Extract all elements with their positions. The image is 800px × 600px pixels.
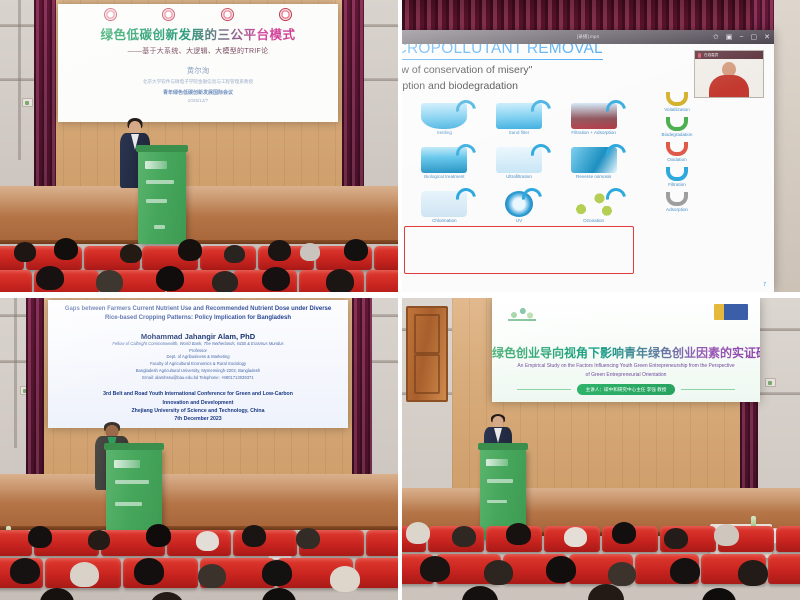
process-cell: Biological treatment bbox=[408, 146, 481, 188]
hall-scene-1: 绿色低碳创新发展的三公平台模式 ——基于大系统、大逻辑、大模型的TRIF论 黄尔… bbox=[0, 0, 398, 292]
chlorination-icon bbox=[421, 191, 467, 217]
fate-list: Volatilization Biodegradation Oxidation bbox=[642, 92, 712, 217]
audience-head bbox=[326, 269, 354, 292]
audience-head bbox=[664, 528, 688, 549]
projection-screen: 绿色创业导向视角下影响青年绿色创业因素的实证研究 An Empirical St… bbox=[492, 298, 760, 402]
participant-body bbox=[709, 75, 749, 97]
audience-head bbox=[588, 584, 624, 600]
slide-line-2: Sorption and biodegradation bbox=[402, 80, 518, 92]
fate-item: Filtration bbox=[642, 167, 712, 187]
process-label: UV bbox=[483, 218, 556, 224]
audience-head bbox=[546, 556, 576, 583]
process-label: Ozonation bbox=[557, 218, 630, 224]
audience-head bbox=[134, 558, 164, 585]
process-cell: Settling bbox=[408, 102, 481, 144]
podium-text-line bbox=[115, 502, 142, 506]
ultrafiltration-icon bbox=[496, 147, 542, 173]
pin-icon[interactable]: ✩ bbox=[713, 33, 719, 41]
reverse-osmosis-icon bbox=[571, 147, 617, 173]
podium-text-line bbox=[115, 480, 149, 484]
seat bbox=[355, 558, 398, 588]
slide-conference-line-1: 3rd Belt and Road Youth International Co… bbox=[58, 390, 338, 398]
fate-item: Adsorption bbox=[642, 192, 712, 212]
seat bbox=[0, 270, 32, 292]
audience-head bbox=[452, 526, 476, 547]
audience-head bbox=[196, 531, 219, 551]
slide-subtitle-line-2: of Green Entrepreneurial Orientation bbox=[586, 372, 667, 378]
settling-tank-icon bbox=[421, 103, 467, 129]
audience-head bbox=[70, 562, 99, 587]
audience-head bbox=[96, 270, 123, 292]
partner-logo-icon bbox=[714, 304, 748, 320]
seat bbox=[366, 270, 398, 292]
audience-head bbox=[296, 528, 320, 549]
audience-head bbox=[670, 558, 700, 584]
process-label: Chlorination bbox=[408, 218, 481, 224]
hall-scene-3: Gaps between Farmers Current Nutrient Us… bbox=[0, 298, 398, 600]
panel-green-low-carbon-keynote: 绿色低碳创新发展的三公平台模式 ——基于大系统、大逻辑、大模型的TRIF论 黄尔… bbox=[0, 0, 398, 292]
fate-label: Volatilization bbox=[642, 107, 712, 112]
wall-seam bbox=[18, 0, 21, 160]
fate-item: Biodegradation bbox=[642, 117, 712, 137]
audience-head bbox=[120, 244, 142, 263]
seal-icon bbox=[104, 8, 117, 21]
audience-head bbox=[406, 522, 430, 544]
slide-subtitle: ——基于大系统、大逻辑、大模型的TRIF论 bbox=[66, 46, 330, 56]
audience-seating-4 bbox=[402, 520, 800, 600]
audience-head bbox=[28, 526, 52, 548]
audience-head bbox=[224, 245, 245, 263]
podium-top bbox=[136, 145, 188, 152]
seal-icon bbox=[279, 8, 292, 21]
audience-head bbox=[14, 242, 36, 262]
slide-fellow-line: Fellow of Calbright Commonwealth, World … bbox=[58, 341, 338, 348]
audience-head bbox=[178, 239, 202, 261]
fate-label: Filtration bbox=[642, 182, 712, 187]
seal-icon bbox=[221, 8, 234, 21]
process-label: Filtration + Adsorption bbox=[557, 130, 630, 136]
process-cell: Sand filter bbox=[483, 102, 556, 144]
audience-head bbox=[156, 266, 184, 291]
process-label: Ultrafiltration bbox=[483, 174, 556, 180]
process-cell: Ultrafiltration bbox=[483, 146, 556, 188]
stage-floor bbox=[0, 186, 398, 242]
slide-faculty: Faculty of Agricultural Economics & Rura… bbox=[58, 361, 338, 368]
process-cell: Reverse osmosis bbox=[557, 146, 630, 188]
audience-head bbox=[212, 271, 238, 292]
audience-head bbox=[612, 522, 636, 544]
audience-head bbox=[300, 243, 320, 261]
panel-green-entrepreneurship-keynote: 绿色创业导向视角下影响青年绿色创业因素的实证研究 An Empirical St… bbox=[402, 298, 800, 600]
seat bbox=[366, 530, 398, 556]
podium-logo bbox=[145, 161, 167, 169]
seat bbox=[776, 526, 800, 552]
sand-filter-icon bbox=[496, 103, 542, 129]
slide-title: Gaps between Farmers Current Nutrient Us… bbox=[58, 305, 338, 323]
slide-bangladesh-nutrient: Gaps between Farmers Current Nutrient Us… bbox=[48, 300, 348, 428]
filtration-arrow-icon bbox=[666, 167, 688, 181]
audience-head bbox=[608, 562, 636, 586]
seal-icon bbox=[162, 8, 175, 21]
audience-seating-1 bbox=[0, 236, 398, 292]
exit-door[interactable] bbox=[406, 306, 448, 402]
slide-page-number: 7 bbox=[763, 282, 766, 288]
podium-text-line bbox=[487, 500, 506, 504]
audience-head bbox=[10, 558, 40, 584]
participant-name: 在线嘉宾 bbox=[704, 53, 718, 58]
wall-socket bbox=[22, 98, 33, 107]
audience-head bbox=[54, 238, 78, 260]
audience-seating-3 bbox=[0, 522, 398, 600]
audience-head bbox=[262, 588, 296, 600]
university-leaf-logo-icon bbox=[502, 303, 542, 323]
seat bbox=[374, 246, 398, 270]
player-file-name: [录播].mp4 bbox=[577, 34, 599, 40]
seat bbox=[768, 554, 800, 584]
slide-title: 绿色低碳创新发展的三公平台模式 bbox=[66, 24, 330, 43]
adsorption-arrow-icon bbox=[666, 192, 688, 206]
participant-figure bbox=[709, 62, 749, 97]
microphone-muted-icon bbox=[698, 53, 701, 58]
video-participant-thumbnail[interactable]: 在线嘉宾 bbox=[694, 50, 764, 98]
process-label: Settling bbox=[408, 130, 481, 136]
audience-head bbox=[702, 588, 736, 600]
process-label: Reverse osmosis bbox=[557, 174, 630, 180]
podium-text-line bbox=[146, 180, 174, 184]
process-cell: Filtration + Adsorption bbox=[557, 102, 630, 144]
side-wall bbox=[774, 0, 800, 292]
podium bbox=[138, 150, 186, 244]
projection-screen: 绿色低碳创新发展的三公平台模式 ——基于大系统、大逻辑、大模型的TRIF论 黄尔… bbox=[58, 4, 338, 122]
audience-head bbox=[564, 527, 587, 547]
oxidation-arrow-icon bbox=[666, 142, 688, 156]
podium-text-line bbox=[154, 225, 165, 229]
audience-head bbox=[262, 267, 290, 291]
projection-screen: MICROPOLLUTANT REMOVAL "Law of conservat… bbox=[402, 30, 774, 292]
ozonation-icon bbox=[571, 191, 617, 217]
audience-head bbox=[330, 566, 360, 592]
wall-seam bbox=[14, 298, 17, 448]
podium-top bbox=[478, 443, 528, 450]
fate-label: Adsorption bbox=[642, 207, 712, 212]
photo-collage: 绿色低碳创新发展的三公平台模式 ——基于大系统、大逻辑、大模型的TRIF论 黄尔… bbox=[0, 0, 800, 600]
audience-head bbox=[40, 588, 74, 600]
treatment-process-grid: Settling Sand filter Filtration + Adsorp… bbox=[408, 102, 630, 232]
slide-seal-row bbox=[66, 8, 330, 21]
maximize-icon[interactable]: ▢ bbox=[751, 33, 758, 41]
slide-conference-line-2: Innovation and Development bbox=[58, 399, 338, 407]
slide-date: 2025/12/7 bbox=[66, 98, 330, 103]
audience-head bbox=[262, 560, 292, 586]
audience-head bbox=[146, 524, 171, 547]
audience-head bbox=[420, 556, 450, 582]
player-window-titlebar[interactable]: [录播].mp4 ✩ ▣ − ▢ ✕ bbox=[402, 30, 774, 44]
fate-label: Biodegradation bbox=[642, 132, 712, 137]
audience-head bbox=[344, 239, 368, 261]
minimize-icon[interactable]: − bbox=[739, 34, 743, 41]
slide-conference: 青年绿色低碳创新发展国际会议 bbox=[66, 89, 330, 96]
audience-head bbox=[150, 592, 184, 600]
slide-contact: Email: alamhssu@bau.edu.bd Telephone: +8… bbox=[58, 375, 338, 382]
filtration-adsorption-icon bbox=[571, 103, 617, 129]
highlight-box bbox=[404, 226, 634, 274]
audience-head bbox=[714, 524, 739, 546]
slide-presenter: Mohammad Jahangir Alam, PhD bbox=[58, 332, 338, 341]
podium-logo bbox=[114, 460, 140, 468]
audience-head bbox=[738, 560, 768, 586]
screen-icon[interactable]: ▣ bbox=[726, 33, 733, 41]
process-label: Biological treatment bbox=[408, 174, 481, 180]
audience-head bbox=[88, 530, 110, 550]
window-controls[interactable]: ✩ ▣ − ▢ ✕ bbox=[713, 30, 770, 44]
podium-top bbox=[104, 443, 164, 450]
stage-curtain-right bbox=[352, 298, 372, 474]
video-thumb-header: 在线嘉宾 bbox=[695, 51, 763, 59]
host-badge: 主讲人：碳中和研究中心主任 李强 教授 bbox=[577, 384, 676, 395]
process-label: Sand filter bbox=[483, 130, 556, 136]
audience-head bbox=[484, 560, 513, 585]
slide-line-1: "Law of conservation of misery" bbox=[402, 64, 532, 76]
stage-curtain-right bbox=[342, 0, 364, 186]
audience-head bbox=[242, 525, 266, 547]
audience-head bbox=[506, 523, 531, 545]
panel-micropollutant-removal: MICROPOLLUTANT REMOVAL "Law of conservat… bbox=[402, 0, 800, 292]
stage-curtain-left bbox=[26, 298, 44, 474]
slide-affiliation: 北京大学软件与微电子学院金融信息与工程管理系教授 bbox=[66, 79, 330, 85]
host-badge-row: 主讲人：碳中和研究中心主任 李强 教授 bbox=[492, 384, 760, 395]
slide-green-entrepreneurship: 绿色创业导向视角下影响青年绿色创业因素的实证研究 An Empirical St… bbox=[492, 298, 760, 402]
biological-treatment-icon bbox=[421, 147, 467, 173]
slide-subtitle: An Empirical Study on the Factors Influe… bbox=[516, 362, 736, 379]
fate-item: Oxidation bbox=[642, 142, 712, 162]
panel-bangladesh-nutrient-keynote: Gaps between Farmers Current Nutrient Us… bbox=[0, 298, 398, 600]
slide-dept: Dept. of Agribusiness & Marketing bbox=[58, 354, 338, 361]
podium-logo bbox=[486, 459, 507, 466]
stage-floor bbox=[0, 474, 398, 528]
projection-screen: Gaps between Farmers Current Nutrient Us… bbox=[48, 300, 348, 428]
biodegradation-arrow-icon bbox=[666, 117, 688, 131]
audience-head bbox=[268, 240, 291, 261]
slide-author: 黄尔洵 bbox=[66, 65, 330, 76]
fate-label: Oxidation bbox=[642, 157, 712, 162]
slide-venue: Zhejiang University of Science and Techn… bbox=[58, 407, 338, 415]
slide-role: Professor bbox=[58, 348, 338, 355]
stage-curtain-left bbox=[34, 0, 56, 186]
rule-right bbox=[681, 389, 735, 390]
slide-title: 绿色创业导向视角下影响青年绿色创业因素的实证研究 bbox=[492, 344, 760, 361]
slide-green-low-carbon: 绿色低碳创新发展的三公平台模式 ——基于大系统、大逻辑、大模型的TRIF论 黄尔… bbox=[58, 4, 338, 122]
wall-socket bbox=[765, 378, 776, 387]
audience-head bbox=[198, 564, 226, 588]
rule-left bbox=[517, 389, 571, 390]
close-icon[interactable]: ✕ bbox=[764, 33, 770, 41]
uv-icon bbox=[505, 191, 533, 217]
hall-scene-2: MICROPOLLUTANT REMOVAL "Law of conservat… bbox=[402, 0, 800, 292]
volatilization-arrow-icon bbox=[666, 92, 688, 106]
slide-university: Bangladesh Agricultural University, Myme… bbox=[58, 368, 338, 375]
podium-text-line bbox=[146, 199, 167, 203]
audience-head bbox=[462, 586, 498, 600]
hall-scene-4: 绿色创业导向视角下影响青年绿色创业因素的实证研究 An Empirical St… bbox=[402, 298, 800, 600]
podium-text-line bbox=[487, 479, 513, 483]
audience-head bbox=[36, 266, 64, 290]
slide-subtitle-line-1: An Empirical Study on the Factors Influe… bbox=[517, 363, 734, 369]
